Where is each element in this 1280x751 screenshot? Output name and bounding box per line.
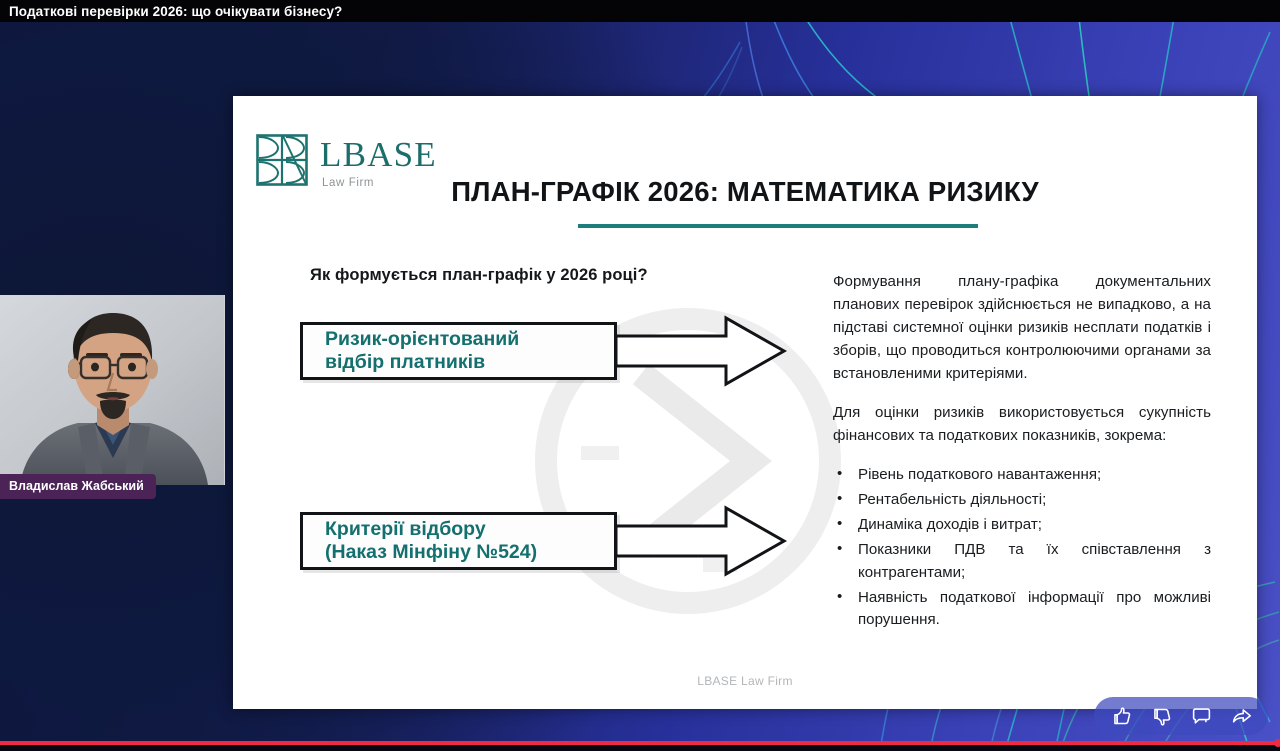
player-bottom-edge — [0, 745, 1280, 751]
flow-box-risk-selection: Ризик-орієнтований відбір платників — [300, 322, 617, 380]
slide-footer: LBASE Law Firm — [233, 674, 1257, 688]
dislike-button[interactable] — [1144, 701, 1178, 731]
speaker-webcam-image — [0, 295, 225, 485]
flow-box-2-line-1: Критерії відбору — [325, 518, 537, 541]
speaker-video-tile[interactable] — [0, 295, 225, 485]
flow-box-1-line-1: Ризик-орієнтований — [325, 328, 519, 351]
paragraph-2: Для оцінки ризиків використовується суку… — [833, 402, 1211, 448]
list-item: Рентабельність діяльності; — [833, 489, 1211, 512]
progress-handle[interactable] — [1274, 739, 1280, 747]
list-item: Наявність податкової інформації про можл… — [833, 587, 1211, 632]
window-title-bar: Податкові перевірки 2026: що очікувати б… — [0, 0, 1280, 22]
list-item: Рівень податкового навантаження; — [833, 464, 1211, 487]
comment-button[interactable] — [1184, 701, 1218, 731]
progress-fill — [0, 741, 1280, 745]
slide-title: ПЛАН-ГРАФІК 2026: МАТЕМАТИКА РИЗИКУ — [233, 176, 1257, 208]
thumbs-down-icon — [1151, 706, 1172, 727]
slide-title-underline — [578, 224, 978, 228]
flow-box-1-text: Ризик-орієнтований відбір платників — [325, 328, 519, 374]
share-button[interactable] — [1224, 701, 1258, 731]
video-player: Податкові перевірки 2026: що очікувати б… — [0, 0, 1280, 751]
like-button[interactable] — [1104, 701, 1138, 731]
flow-arrow-1-icon — [614, 312, 789, 390]
window-title: Податкові перевірки 2026: що очікувати б… — [9, 4, 342, 19]
list-item: Показники ПДВ та їх співставлення з конт… — [833, 539, 1211, 584]
video-stage: LBASE Law Firm ПЛАН-ГРАФІК 2026: МАТЕМАТ… — [0, 22, 1280, 751]
flow-box-2-line-2: (Наказ Мінфіну №524) — [325, 541, 537, 564]
slide-question: Як формується план-графік у 2026 році? — [310, 266, 648, 285]
flow-box-selection-criteria: Критерії відбору (Наказ Мінфіну №524) — [300, 512, 617, 570]
comment-icon — [1191, 706, 1212, 727]
lbase-logo-word: LBASE — [320, 137, 437, 172]
share-icon — [1231, 706, 1252, 727]
flow-box-2-text: Критерії відбору (Наказ Мінфіну №524) — [325, 518, 537, 564]
paragraph-1: Формування плану-графіка документальних … — [833, 271, 1211, 386]
slide-body-text: Формування плану-графіка документальних … — [833, 271, 1211, 635]
flow-arrow-2-icon — [614, 502, 789, 580]
thumbs-up-icon — [1111, 706, 1132, 727]
presentation-slide: LBASE Law Firm ПЛАН-ГРАФІК 2026: МАТЕМАТ… — [233, 96, 1257, 709]
reaction-bar — [1094, 697, 1268, 735]
risk-indicator-list: Рівень податкового навантаження; Рентабе… — [833, 464, 1211, 632]
list-item: Динаміка доходів і витрат; — [833, 514, 1211, 537]
flow-box-1-line-2: відбір платників — [325, 351, 519, 374]
video-progress-bar[interactable] — [0, 741, 1280, 745]
speaker-name-tag: Владислав Жабський — [0, 474, 156, 499]
